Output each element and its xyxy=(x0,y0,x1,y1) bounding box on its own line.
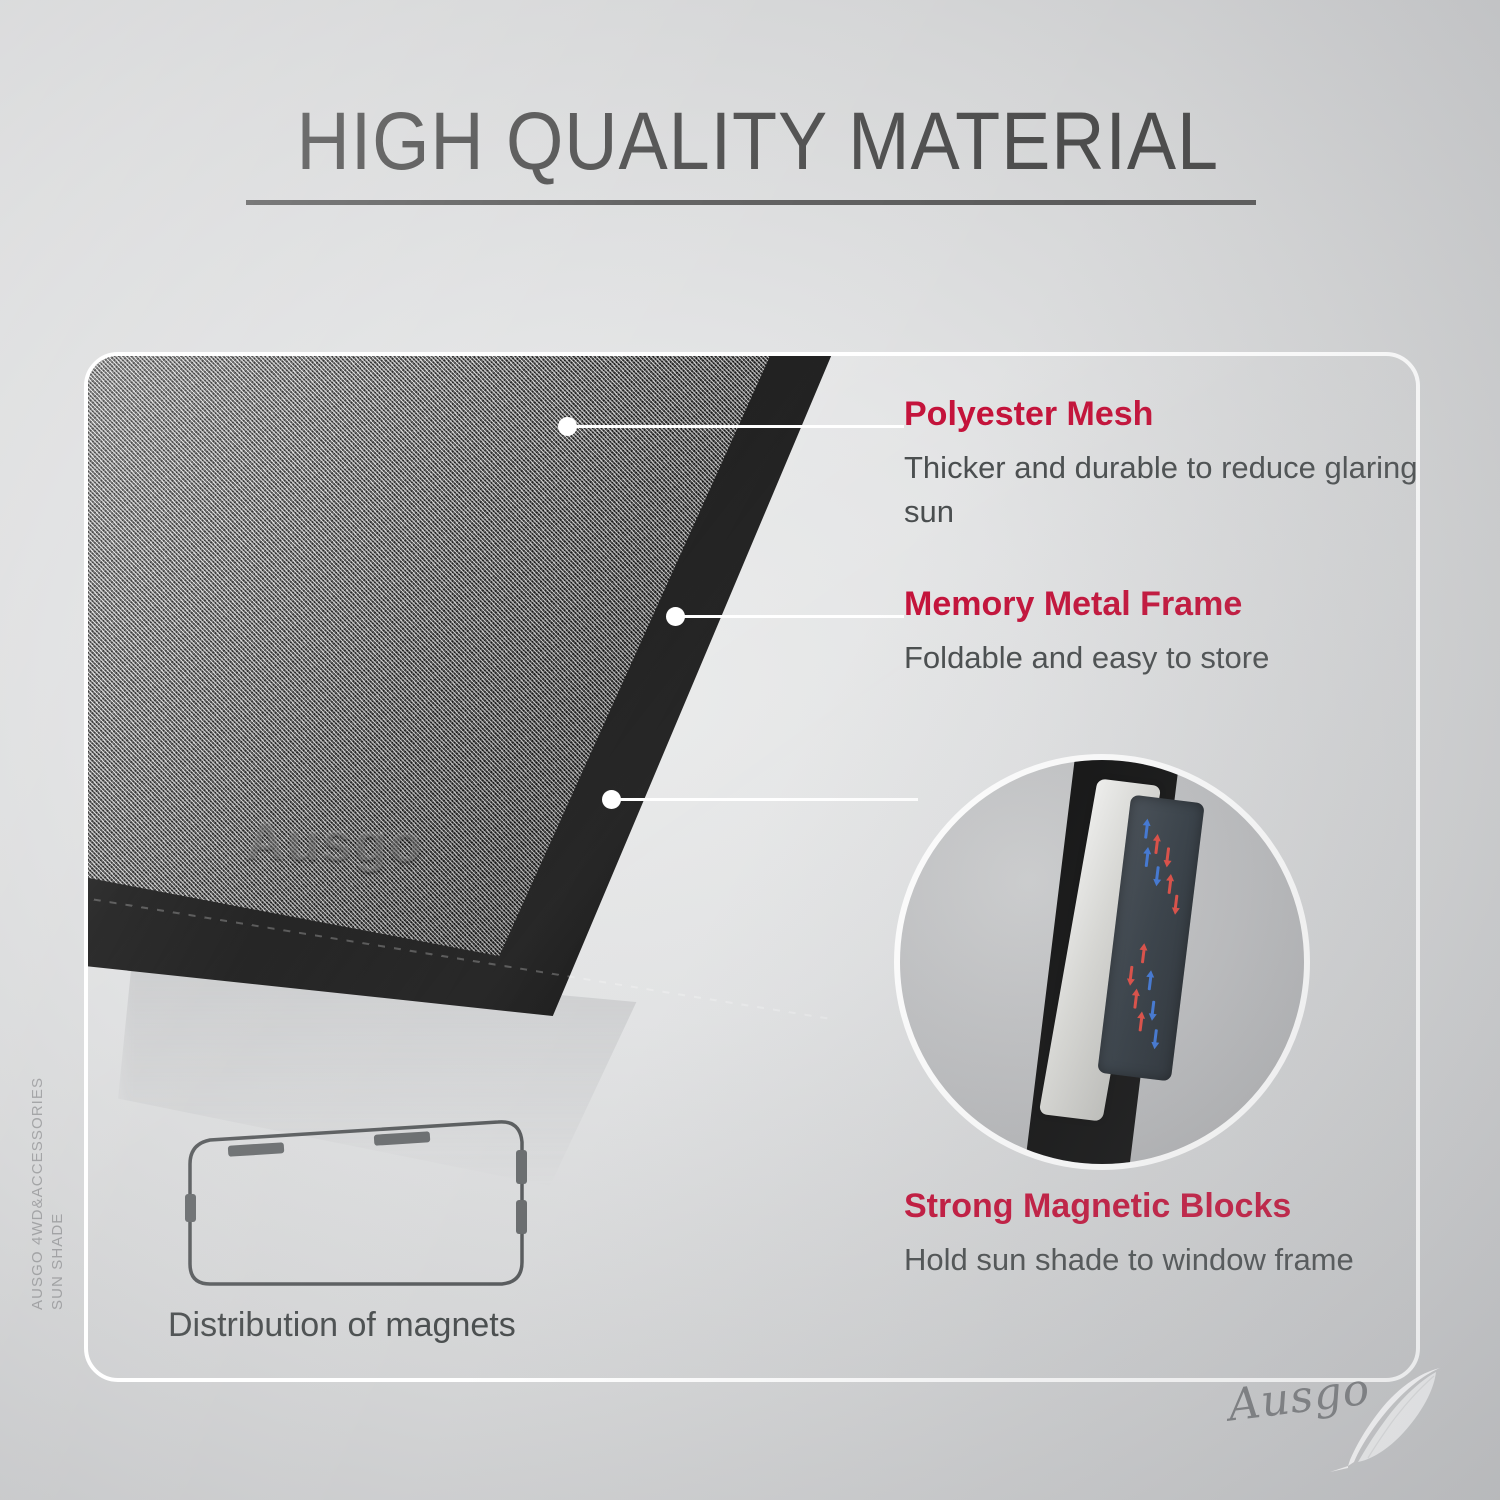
magnet-arrow-icon xyxy=(1150,1001,1155,1017)
feature-title: Strong Magnetic Blocks xyxy=(904,1186,1420,1226)
callout-line-magnetic-blocks xyxy=(618,798,918,801)
magnet-distribution-diagram xyxy=(176,1116,536,1296)
magnet-arrow-icon xyxy=(1174,895,1179,911)
brand-logo: Ausgo xyxy=(1228,1358,1458,1478)
magnet-arrow-icon xyxy=(1145,851,1150,867)
magnet-segment xyxy=(516,1150,527,1184)
magnet-arrow-icon xyxy=(1165,847,1170,863)
feature-description: Foldable and easy to store xyxy=(904,636,1420,680)
magnet-distribution-svg xyxy=(176,1116,536,1296)
magnet-arrow-icon xyxy=(1133,992,1138,1008)
magnet-closeup-circle xyxy=(894,754,1310,1170)
magnet-arrow-icon xyxy=(1129,966,1134,982)
title-underline xyxy=(246,200,1256,205)
feature-memory-metal-frame: Memory Metal Frame Foldable and easy to … xyxy=(904,584,1420,680)
infographic-page: HIGH QUALITY MATERIAL AUSGO 4WD&ACCESSOR… xyxy=(0,0,1500,1500)
feature-title: Memory Metal Frame xyxy=(904,584,1420,624)
page-title: HIGH QUALITY MATERIAL xyxy=(297,96,1206,188)
magnet-arrow-icon xyxy=(1139,1015,1144,1031)
feature-polyester-mesh: Polyester Mesh Thicker and durable to re… xyxy=(904,394,1420,534)
magnet-arrow-icon xyxy=(1144,823,1149,839)
mesh-watermark: Ausgo xyxy=(245,809,424,874)
magnet-segment xyxy=(228,1142,285,1156)
magnet-arrow-icon xyxy=(1154,838,1159,854)
magnet-arrow-icon xyxy=(1148,974,1153,990)
side-caption-line-2: SUN SHADE xyxy=(48,1010,68,1310)
content-panel: Ausgo xyxy=(84,352,1420,1382)
magnet-arrow-icon xyxy=(1168,878,1173,894)
callout-line-polyester-mesh xyxy=(574,425,904,428)
magnet-segment xyxy=(185,1194,196,1222)
magnet-segment xyxy=(374,1131,431,1145)
side-caption-line-1: AUSGO 4WD&ACCESSORIES xyxy=(28,1010,48,1310)
side-caption: AUSGO 4WD&ACCESSORIES SUN SHADE xyxy=(28,1010,68,1310)
magnet-segment xyxy=(516,1200,527,1234)
feature-title: Polyester Mesh xyxy=(904,394,1420,434)
feature-strong-magnetic-blocks: Strong Magnetic Blocks Hold sun shade to… xyxy=(904,1186,1420,1282)
magnet-diagram-caption: Distribution of magnets xyxy=(168,1306,516,1345)
feather-quill-icon xyxy=(1308,1358,1458,1478)
magnet-arrow-icon xyxy=(1141,947,1146,963)
product-photo: Ausgo xyxy=(88,356,888,996)
magnet-arrow-icon xyxy=(1155,866,1160,882)
feature-description: Hold sun shade to window frame xyxy=(904,1238,1420,1282)
feature-description: Thicker and durable to reduce glaring su… xyxy=(904,446,1420,534)
callout-line-memory-metal-frame xyxy=(682,615,904,618)
magnet-arrow-icon xyxy=(1153,1029,1158,1045)
title-block: HIGH QUALITY MATERIAL xyxy=(246,96,1256,205)
